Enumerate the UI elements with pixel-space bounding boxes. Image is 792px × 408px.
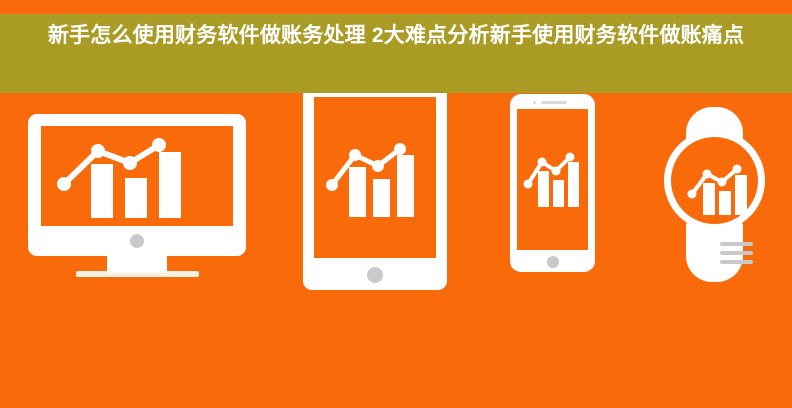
phone-camera-icon <box>533 101 536 104</box>
device-smartwatch[interactable] <box>664 107 765 282</box>
title-banner: 新手怎么使用财务软件做账务处理 2大难点分析新手使用财务软件做账痛点 <box>0 14 792 93</box>
phone-screen <box>517 109 588 250</box>
analytics-chart-icon <box>53 136 205 218</box>
device-tablet[interactable] <box>303 78 447 290</box>
tablet-screen <box>314 97 436 258</box>
page-title: 新手怎么使用财务软件做账务处理 2大难点分析新手使用财务软件做账痛点 <box>28 20 764 51</box>
tablet-home-button[interactable] <box>367 267 383 283</box>
monitor-screen <box>41 126 233 226</box>
analytics-chart-icon <box>324 141 428 217</box>
poster-canvas: 新手怎么使用财务软件做账务处理 2大难点分析新手使用财务软件做账痛点 <box>0 0 792 408</box>
analytics-chart-icon <box>523 151 585 207</box>
watch-strap-holes-icon <box>720 242 753 264</box>
monitor-power-indicator <box>130 234 144 248</box>
phone-speaker-icon <box>541 101 567 104</box>
analytics-chart-icon <box>687 163 753 215</box>
monitor-stand-neck <box>107 256 167 273</box>
device-desktop-monitor[interactable] <box>28 114 246 256</box>
watch-screen <box>664 130 765 231</box>
phone-home-button[interactable] <box>547 256 559 268</box>
device-smartphone[interactable] <box>510 94 595 272</box>
